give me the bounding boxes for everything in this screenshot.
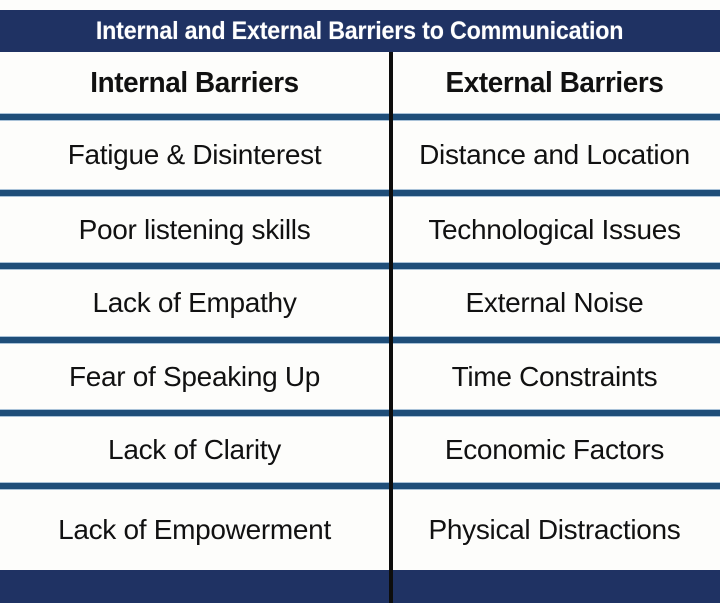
cell-external-6: Physical Distractions [389, 489, 720, 570]
cell-external-4: Time Constraints [389, 343, 720, 410]
cell-internal-5: Lack of Clarity [0, 416, 389, 483]
cell-internal-3: Lack of Empathy [0, 269, 389, 337]
cell-internal-2: Poor listening skills [0, 196, 389, 263]
table-row: Lack of Empowerment Physical Distraction… [0, 489, 720, 570]
cell-internal-4: Fear of Speaking Up [0, 343, 389, 410]
table-row: Lack of Clarity Economic Factors [0, 416, 720, 483]
column-header-external: External Barriers [396, 52, 714, 114]
cell-external-1: Distance and Location [389, 120, 720, 190]
cell-external-5: Economic Factors [389, 416, 720, 483]
table-row: Lack of Empathy External Noise [0, 269, 720, 337]
table-grid: Internal Barriers External Barriers Fati… [0, 52, 720, 570]
table-row: Fear of Speaking Up Time Constraints [0, 343, 720, 410]
column-header-internal: Internal Barriers [8, 52, 381, 114]
cell-external-3: External Noise [389, 269, 720, 337]
barriers-table-card: Internal and External Barriers to Commun… [0, 0, 720, 603]
table-header-row: Internal Barriers External Barriers [0, 52, 720, 114]
table-row: Poor listening skills Technological Issu… [0, 196, 720, 263]
table-title-bar: Internal and External Barriers to Commun… [0, 10, 720, 52]
page-title: Internal and External Barriers to Commun… [96, 17, 623, 46]
cell-internal-1: Fatigue & Disinterest [0, 120, 389, 190]
table-footer-bar [0, 570, 720, 603]
table-row: Fatigue & Disinterest Distance and Locat… [0, 120, 720, 190]
cell-external-2: Technological Issues [389, 196, 720, 263]
column-divider [389, 52, 393, 603]
cell-internal-6: Lack of Empowerment [0, 489, 389, 570]
